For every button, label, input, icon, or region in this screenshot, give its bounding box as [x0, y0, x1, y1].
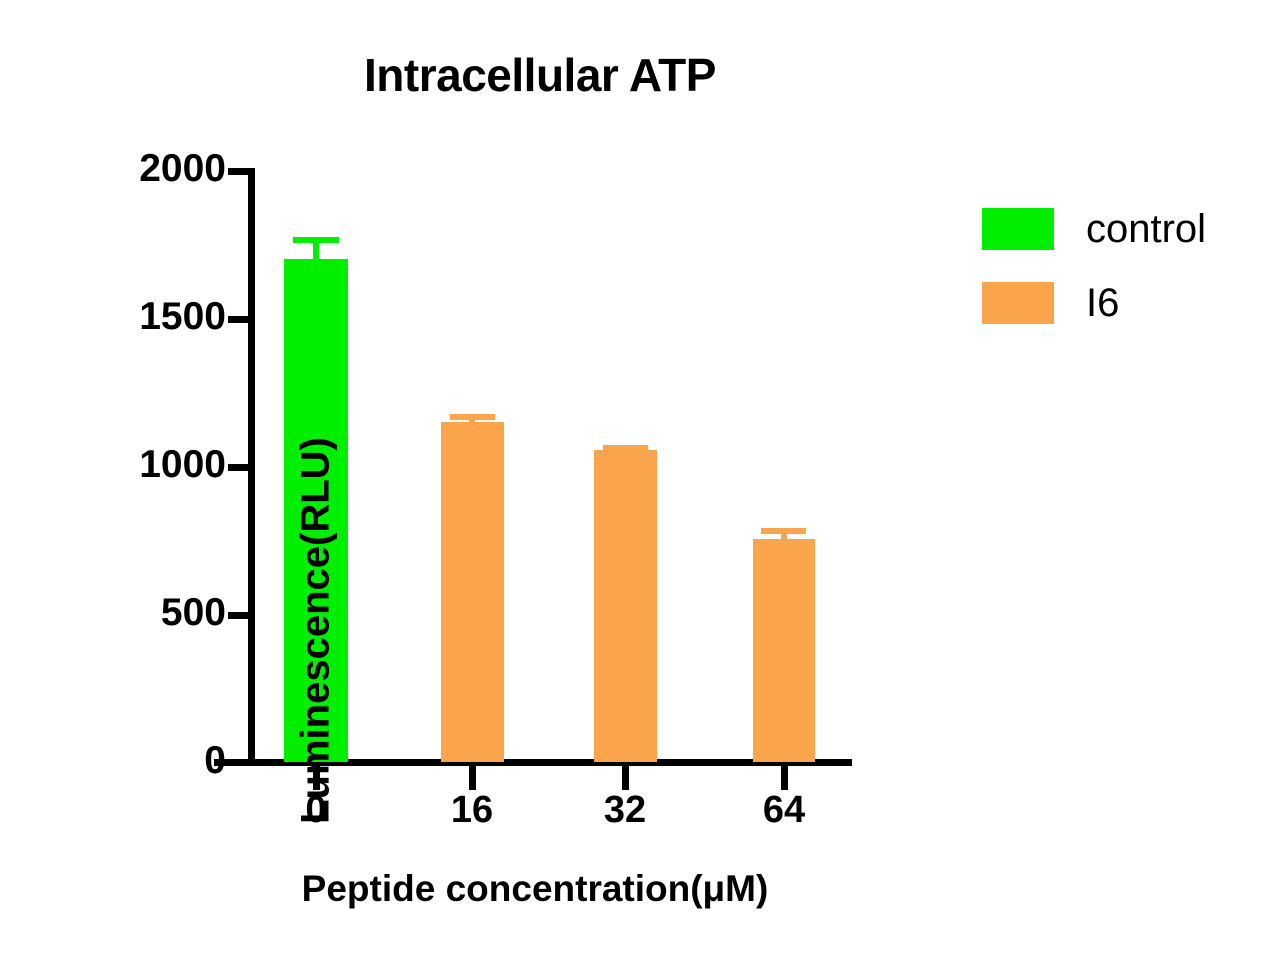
x-tick-label-0: 0 — [256, 790, 376, 832]
error-cap-64 — [761, 528, 806, 534]
chart-figure: Intracellular ATP 2000 1500 1000 500 0 L… — [0, 0, 1271, 961]
legend-label-i6: I6 — [1086, 283, 1119, 323]
error-cap-16 — [450, 414, 495, 420]
y-axis-tick-1000 — [228, 464, 249, 471]
x-axis-title: Peptide concentration(μM) — [215, 868, 855, 910]
legend-item-control[interactable]: control — [982, 192, 1262, 266]
plot-area: Luminescence(RLU) — [248, 170, 848, 762]
error-cap-32 — [603, 445, 648, 451]
bar-32[interactable] — [594, 450, 657, 762]
error-cap-0 — [293, 237, 339, 243]
y-tick-label-500: 500 — [26, 593, 226, 632]
y-tick-label-0: 0 — [26, 741, 226, 780]
bar-16[interactable] — [441, 422, 504, 762]
y-tick-label-2000: 2000 — [26, 149, 226, 188]
bar-64[interactable] — [753, 539, 815, 762]
y-tick-label-1000: 1000 — [26, 445, 226, 484]
y-axis-tick-2000 — [228, 168, 249, 175]
y-axis-tick-labels: 2000 1500 1000 500 0 — [16, 0, 226, 961]
x-axis-tick-64 — [781, 766, 788, 790]
legend-swatch-control — [982, 208, 1054, 250]
x-axis-tick-32 — [622, 766, 629, 790]
legend-label-control: control — [1086, 209, 1206, 249]
x-tick-label-32: 32 — [565, 790, 685, 832]
y-tick-label-1500: 1500 — [26, 297, 226, 336]
x-axis-tick-0 — [313, 766, 320, 790]
legend-item-i6[interactable]: I6 — [982, 266, 1262, 340]
y-axis-tick-1500 — [228, 316, 249, 323]
chart-legend: control I6 — [982, 192, 1262, 340]
legend-swatch-i6 — [982, 282, 1054, 324]
y-axis-tick-500 — [228, 612, 249, 619]
x-tick-label-64: 64 — [724, 790, 844, 832]
x-axis-tick-16 — [469, 766, 476, 790]
x-tick-label-16: 16 — [412, 790, 532, 832]
